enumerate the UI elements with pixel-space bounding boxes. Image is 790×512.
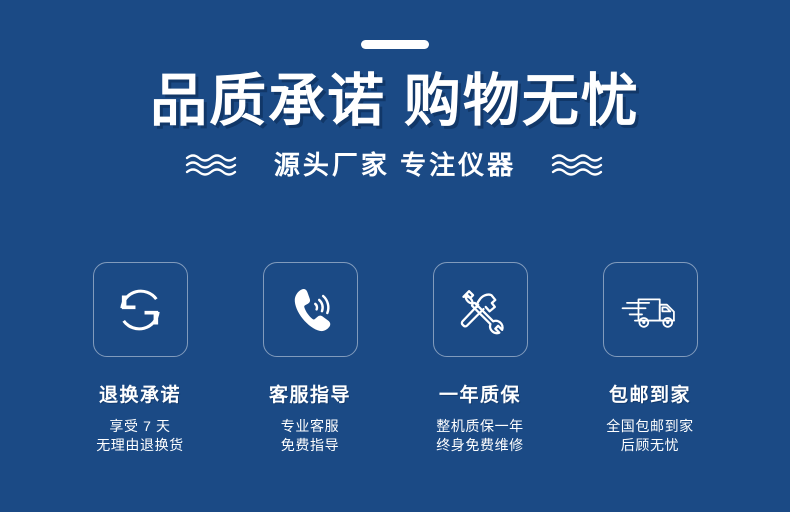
feature-icon-box <box>263 262 358 357</box>
feature-item: 包邮到家 全国包邮到家 后顾无忧 <box>570 262 730 455</box>
feature-description-line: 专业客服 <box>281 417 339 436</box>
wave-lines-icon <box>184 151 240 179</box>
feature-icon-box <box>93 262 188 357</box>
feature-title: 客服指导 <box>269 384 351 408</box>
feature-description-line: 终身免费维修 <box>436 436 524 455</box>
feature-description-line: 后顾无忧 <box>606 436 694 455</box>
feature-item: 一年质保 整机质保一年 终身免费维修 <box>400 262 560 455</box>
top-divider-bar <box>361 40 429 49</box>
hammer-wrench-tools-icon <box>452 282 508 338</box>
feature-title: 包邮到家 <box>609 384 691 408</box>
feature-description-line: 享受 7 天 <box>96 417 184 436</box>
feature-description-line: 无理由退换货 <box>96 436 184 455</box>
feature-title: 一年质保 <box>439 384 521 408</box>
feature-item: 退换承诺 享受 7 天 无理由退换货 <box>60 262 220 455</box>
subtitle-row: 源头厂家 专注仪器 <box>0 148 790 182</box>
feature-item: 客服指导 专业客服 免费指导 <box>230 262 390 455</box>
promo-banner: 品质承诺 购物无忧 源头厂家 专注仪器 <box>0 0 790 512</box>
refresh-return-arrows-icon <box>111 281 169 339</box>
feature-description-line: 免费指导 <box>281 436 339 455</box>
feature-description: 全国包邮到家 后顾无忧 <box>606 417 694 455</box>
feature-description: 专业客服 免费指导 <box>281 417 339 455</box>
page-subtitle: 源头厂家 专注仪器 <box>274 148 516 182</box>
page-title: 品质承诺 购物无忧 <box>0 70 790 132</box>
delivery-truck-icon <box>619 286 681 334</box>
feature-description: 享受 7 天 无理由退换货 <box>96 417 184 455</box>
wave-lines-icon <box>550 151 606 179</box>
feature-icon-box <box>603 262 698 357</box>
feature-description: 整机质保一年 终身免费维修 <box>436 417 524 455</box>
feature-description-line: 全国包邮到家 <box>606 417 694 436</box>
feature-icon-box <box>433 262 528 357</box>
feature-list: 退换承诺 享受 7 天 无理由退换货 <box>60 262 730 455</box>
feature-description-line: 整机质保一年 <box>436 417 524 436</box>
feature-title: 退换承诺 <box>99 384 181 408</box>
phone-call-icon <box>282 282 338 338</box>
